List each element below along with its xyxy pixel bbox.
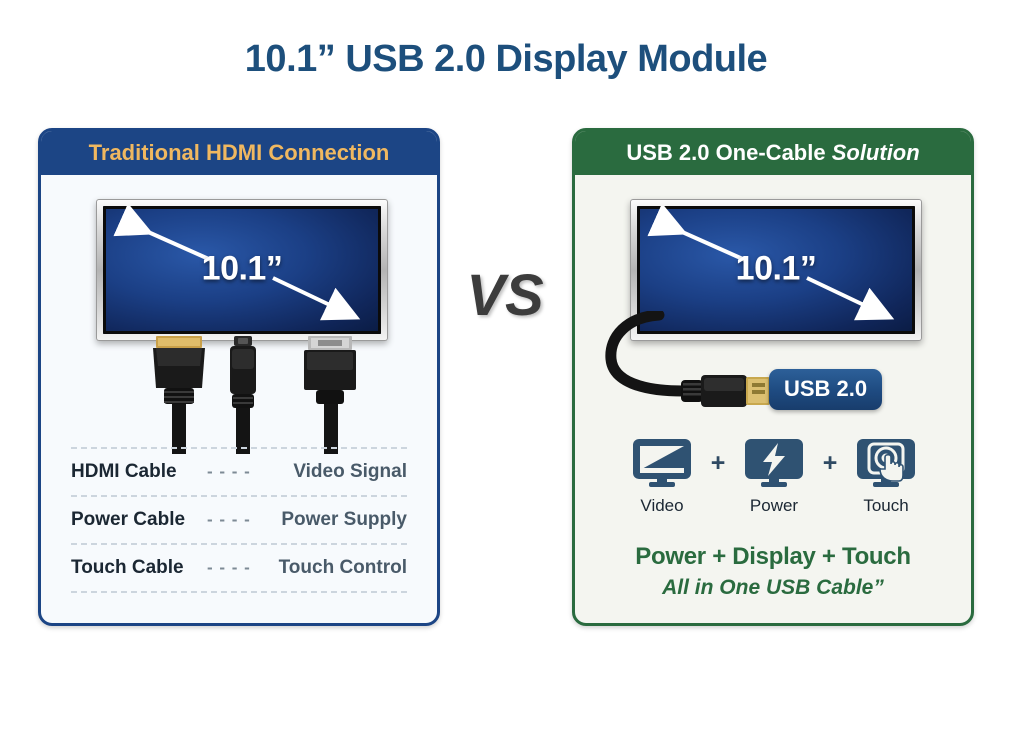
right-screen-size-label: 10.1”: [637, 250, 915, 289]
touch-hand-icon: [855, 437, 917, 489]
usb-version-badge: USB 2.0: [769, 369, 882, 410]
cable-row: Touch Cable - - - - - - - Touch Control: [71, 543, 407, 593]
right-panel-header-emphasis: Solution: [832, 140, 920, 165]
cable-function: Video Signal: [257, 461, 407, 483]
versus-label: VS: [440, 262, 570, 329]
cable-name: Touch Cable: [71, 557, 207, 579]
cable-name: Power Cable: [71, 509, 207, 531]
power-barrel-connector: [230, 336, 256, 454]
feature-power: Power: [731, 437, 817, 516]
summary-sub-text: All in One USB Cable”: [572, 576, 974, 600]
feature-video: Video: [619, 437, 705, 516]
panel-traditional-hdmi: Traditional HDMI Connection 1: [38, 128, 440, 626]
cable-row: HDMI Cable - - - - - - - Video Signal: [71, 447, 407, 495]
cable-name: HDMI Cable: [71, 461, 207, 483]
feature-label: Video: [619, 496, 705, 516]
cable-function: Touch Control: [257, 557, 407, 579]
cable-dots: - - - - - - -: [207, 510, 257, 530]
display-screen: 10.1”: [103, 206, 381, 334]
plus-icon: +: [817, 437, 843, 489]
feature-touch: Touch: [843, 437, 929, 516]
left-display-module: 10.1”: [96, 199, 388, 341]
right-panel-header-text: USB 2.0 One-Cable: [626, 140, 831, 165]
usb-type-a-plug: [681, 375, 770, 407]
lightning-bolt-icon: [743, 437, 805, 489]
cable-dots: - - - - - - -: [207, 558, 257, 578]
plus-icon: +: [705, 437, 731, 489]
cable-row: Power Cable - - - - - - - Power Supply: [71, 495, 407, 543]
right-panel-header: USB 2.0 One-Cable Solution: [575, 131, 971, 175]
left-cables-group: [96, 336, 396, 454]
feature-label: Power: [731, 496, 817, 516]
hdmi-connector: [153, 336, 205, 454]
summary-block: Power + Display + Touch All in One USB C…: [572, 543, 974, 600]
page-title: 10.1” USB 2.0 Display Module: [0, 38, 1012, 81]
cable-legend-list: HDMI Cable - - - - - - - Video Signal Po…: [71, 447, 407, 593]
feature-icons-row: Video + Power + Touch: [598, 437, 950, 516]
left-screen-size-label: 10.1”: [103, 250, 381, 289]
cable-dots: - - - - - - -: [207, 462, 257, 482]
usb-connector: [304, 336, 356, 454]
monitor-icon: [631, 437, 693, 489]
left-panel-header: Traditional HDMI Connection: [41, 131, 437, 175]
feature-label: Touch: [843, 496, 929, 516]
summary-main-text: Power + Display + Touch: [572, 543, 974, 571]
cable-function: Power Supply: [257, 509, 407, 531]
display-bezel: 10.1”: [96, 199, 388, 341]
